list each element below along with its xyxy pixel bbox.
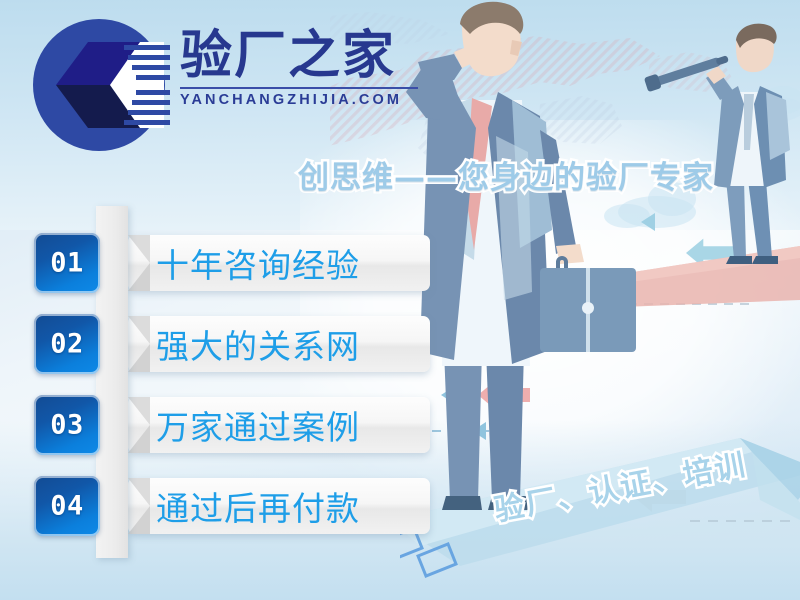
feature-item[interactable]: 02 强大的关系网	[0, 314, 440, 376]
feature-number: 04	[34, 491, 100, 522]
feature-number: 02	[34, 329, 100, 360]
feature-number-badge: 02	[34, 314, 100, 374]
feature-ribbon[interactable]: 万家通过案例	[128, 397, 430, 453]
feature-ribbon[interactable]: 强大的关系网	[128, 316, 430, 372]
feature-item[interactable]: 03 万家通过案例	[0, 395, 440, 457]
feature-number-badge: 03	[34, 395, 100, 455]
promo-banner: 验厂之家 YANCHANGZHIJIA.COM 创思维——您身边的验厂专家 01…	[0, 0, 800, 600]
feature-number: 03	[34, 410, 100, 441]
feature-item[interactable]: 01 十年咨询经验	[0, 233, 440, 295]
feature-number: 01	[34, 248, 100, 279]
feature-number-badge: 04	[34, 476, 100, 536]
feature-label: 强大的关系网	[156, 320, 360, 368]
feature-ribbon[interactable]: 十年咨询经验	[128, 235, 430, 291]
feature-label: 万家通过案例	[156, 401, 360, 449]
feature-label: 通过后再付款	[156, 482, 360, 530]
feature-list-spine	[96, 206, 128, 558]
feature-number-badge: 01	[34, 233, 100, 293]
feature-item[interactable]: 04 通过后再付款	[0, 476, 440, 538]
feature-label: 十年咨询经验	[156, 239, 360, 287]
feature-ribbon[interactable]: 通过后再付款	[128, 478, 430, 534]
